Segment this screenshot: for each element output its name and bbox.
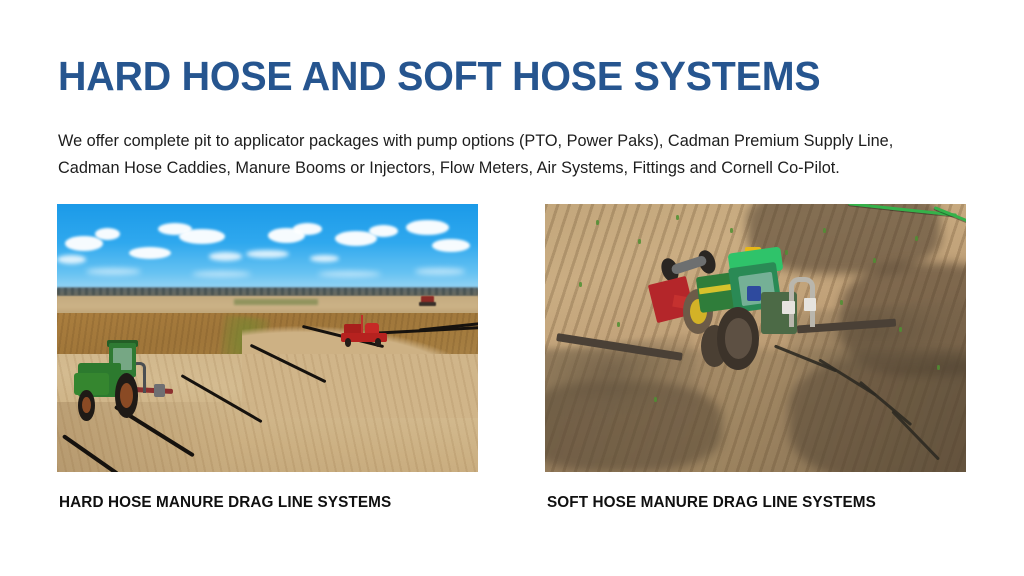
flow-meter-box [804, 298, 816, 312]
sprout [840, 300, 843, 305]
distant-vehicle [421, 296, 434, 305]
pump-cart [341, 315, 387, 347]
intro-line-1: We offer complete pit to applicator pack… [58, 128, 970, 155]
tractor-rear-wheel [115, 373, 138, 418]
cloud-icon [406, 220, 448, 235]
card-caption-soft-hose: SOFT HOSE MANURE DRAG LINE SYSTEMS [547, 494, 876, 512]
sprout [596, 220, 599, 225]
flow-meter-box [782, 301, 794, 315]
tractor-rear-wheel [717, 307, 759, 370]
tractor-front-wheel [78, 390, 94, 421]
sprout [579, 282, 582, 287]
card-caption-hard-hose: HARD HOSE MANURE DRAG LINE SYSTEMS [59, 494, 391, 512]
photo-hard-hose-drag-line[interactable] [57, 204, 478, 472]
slide-canvas: HARD HOSE AND SOFT HOSE SYSTEMS We offer… [0, 0, 1024, 576]
card-hard-hose[interactable]: HARD HOSE MANURE DRAG LINE SYSTEMS [57, 204, 478, 472]
intro-line-2: Cadman Hose Caddies, Manure Booms or Inj… [58, 155, 970, 182]
cloud-icon [209, 252, 243, 261]
horizon-trees-texture [57, 288, 478, 295]
tractor-hood [74, 373, 109, 396]
cloud-icon [293, 223, 322, 235]
sprout [937, 365, 940, 370]
cloud-icon [129, 247, 171, 259]
cloud-icon [246, 250, 288, 259]
cloud-icon [192, 271, 251, 277]
hose-reel-drum [670, 255, 707, 276]
cloud-icon [318, 271, 381, 277]
sprout [899, 327, 902, 332]
photo-soft-hose-drag-line[interactable] [545, 204, 966, 472]
page-title: HARD HOSE AND SOFT HOSE SYSTEMS [58, 52, 941, 100]
pump-wheel [375, 338, 381, 346]
intro-paragraph: We offer complete pit to applicator pack… [58, 128, 970, 182]
tractor-seat [747, 286, 761, 301]
cloud-icon [432, 239, 470, 252]
green-tractor [70, 335, 167, 429]
sprout [617, 322, 620, 327]
sprout [676, 215, 679, 220]
pump-wheel [345, 338, 351, 346]
far-green-strip [234, 299, 318, 305]
sprout [823, 228, 826, 233]
sprout [638, 239, 641, 244]
green-tractor-with-boom [659, 247, 836, 397]
cloud-icon [65, 236, 103, 251]
injector-toolbar [154, 384, 166, 397]
card-soft-hose[interactable]: SOFT HOSE MANURE DRAG LINE SYSTEMS [545, 204, 966, 472]
cloud-icon [415, 268, 466, 274]
pump-mast [361, 315, 364, 334]
sky [57, 204, 478, 290]
